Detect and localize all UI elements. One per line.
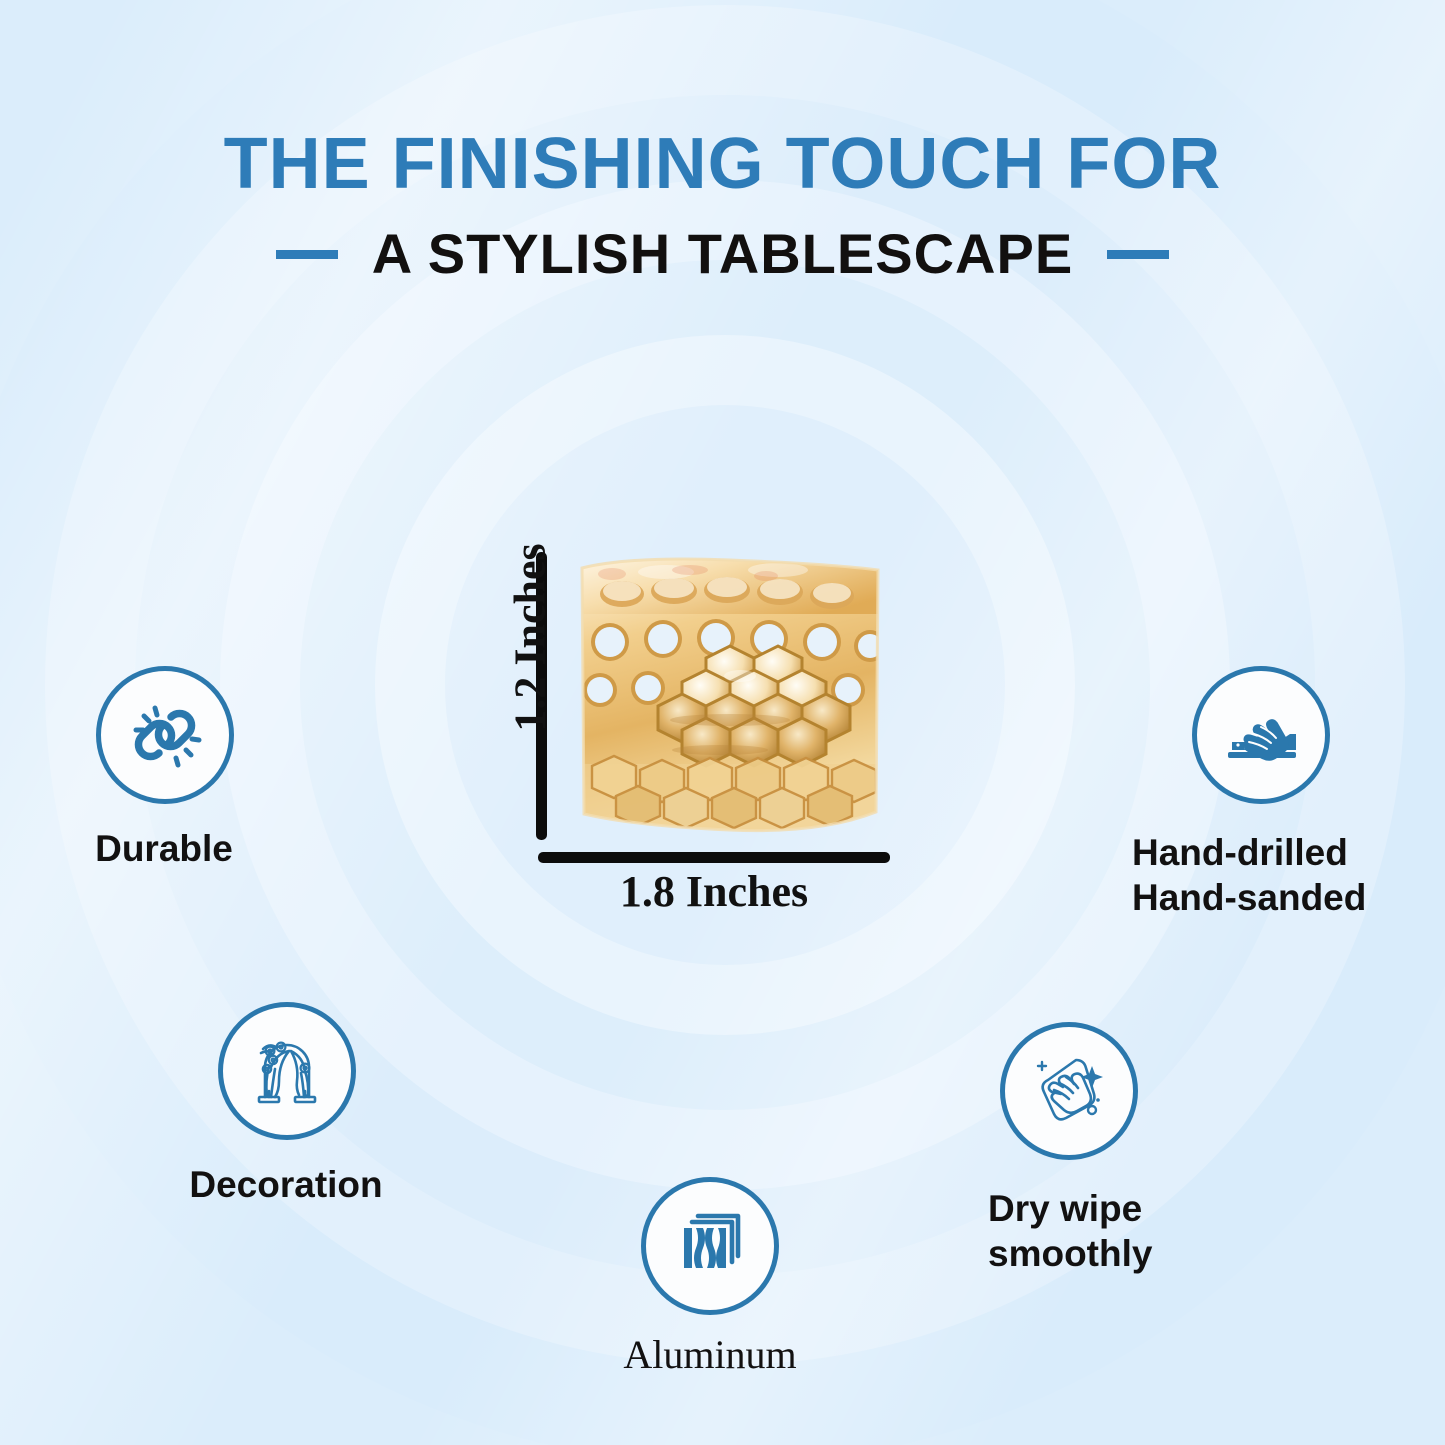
feature-hand-drilled-badge (1192, 666, 1330, 804)
feature-dry-wipe[interactable]: Dry wipe smoothly (1000, 1022, 1348, 1276)
metal-sheets-icon (668, 1204, 752, 1288)
feature-hand-drilled-label: Hand-drilled Hand-sanded (1132, 830, 1445, 920)
feature-aluminum[interactable]: Aluminum (641, 1177, 860, 1380)
feature-aluminum-badge (641, 1177, 779, 1315)
feature-hand-drilled-sanded[interactable]: Hand-drilled Hand-sanded (1192, 666, 1445, 920)
feature-decoration-label: Decoration (96, 1162, 476, 1207)
infographic-canvas: THE FINISHING TOUCH FOR A STYLISH TABLES… (0, 0, 1445, 1445)
feature-durable-badge (96, 666, 234, 804)
page-subtitle: A STYLISH TABLESCAPE (372, 226, 1073, 282)
floral-arch-icon (243, 1027, 331, 1115)
feature-decoration-badge (218, 1002, 356, 1140)
hand-wiping-cloth-icon (1026, 1048, 1112, 1134)
dash-left-decoration (276, 250, 338, 259)
feature-durable[interactable]: Durable (96, 666, 324, 871)
feature-decoration[interactable]: Decoration (218, 1002, 476, 1207)
feature-durable-label: Durable (4, 826, 324, 871)
feature-dry-wipe-badge (1000, 1022, 1138, 1160)
product-photo (570, 550, 890, 846)
feature-aluminum-label: Aluminum (560, 1331, 860, 1380)
feature-dry-wipe-label: Dry wipe smoothly (988, 1186, 1348, 1276)
page-title: THE FINISHING TOUCH FOR (0, 128, 1445, 200)
hand-sanding-icon (1218, 692, 1304, 778)
product-dimension-figure: 1.2 Inches (490, 540, 920, 920)
width-measure-label: 1.8 Inches (538, 866, 890, 917)
chain-link-icon (122, 692, 208, 778)
subtitle-row: A STYLISH TABLESCAPE (0, 226, 1445, 282)
width-measure-bar (538, 852, 890, 863)
dash-right-decoration (1107, 250, 1169, 259)
height-measure-label: 1.2 Inches (505, 538, 556, 738)
